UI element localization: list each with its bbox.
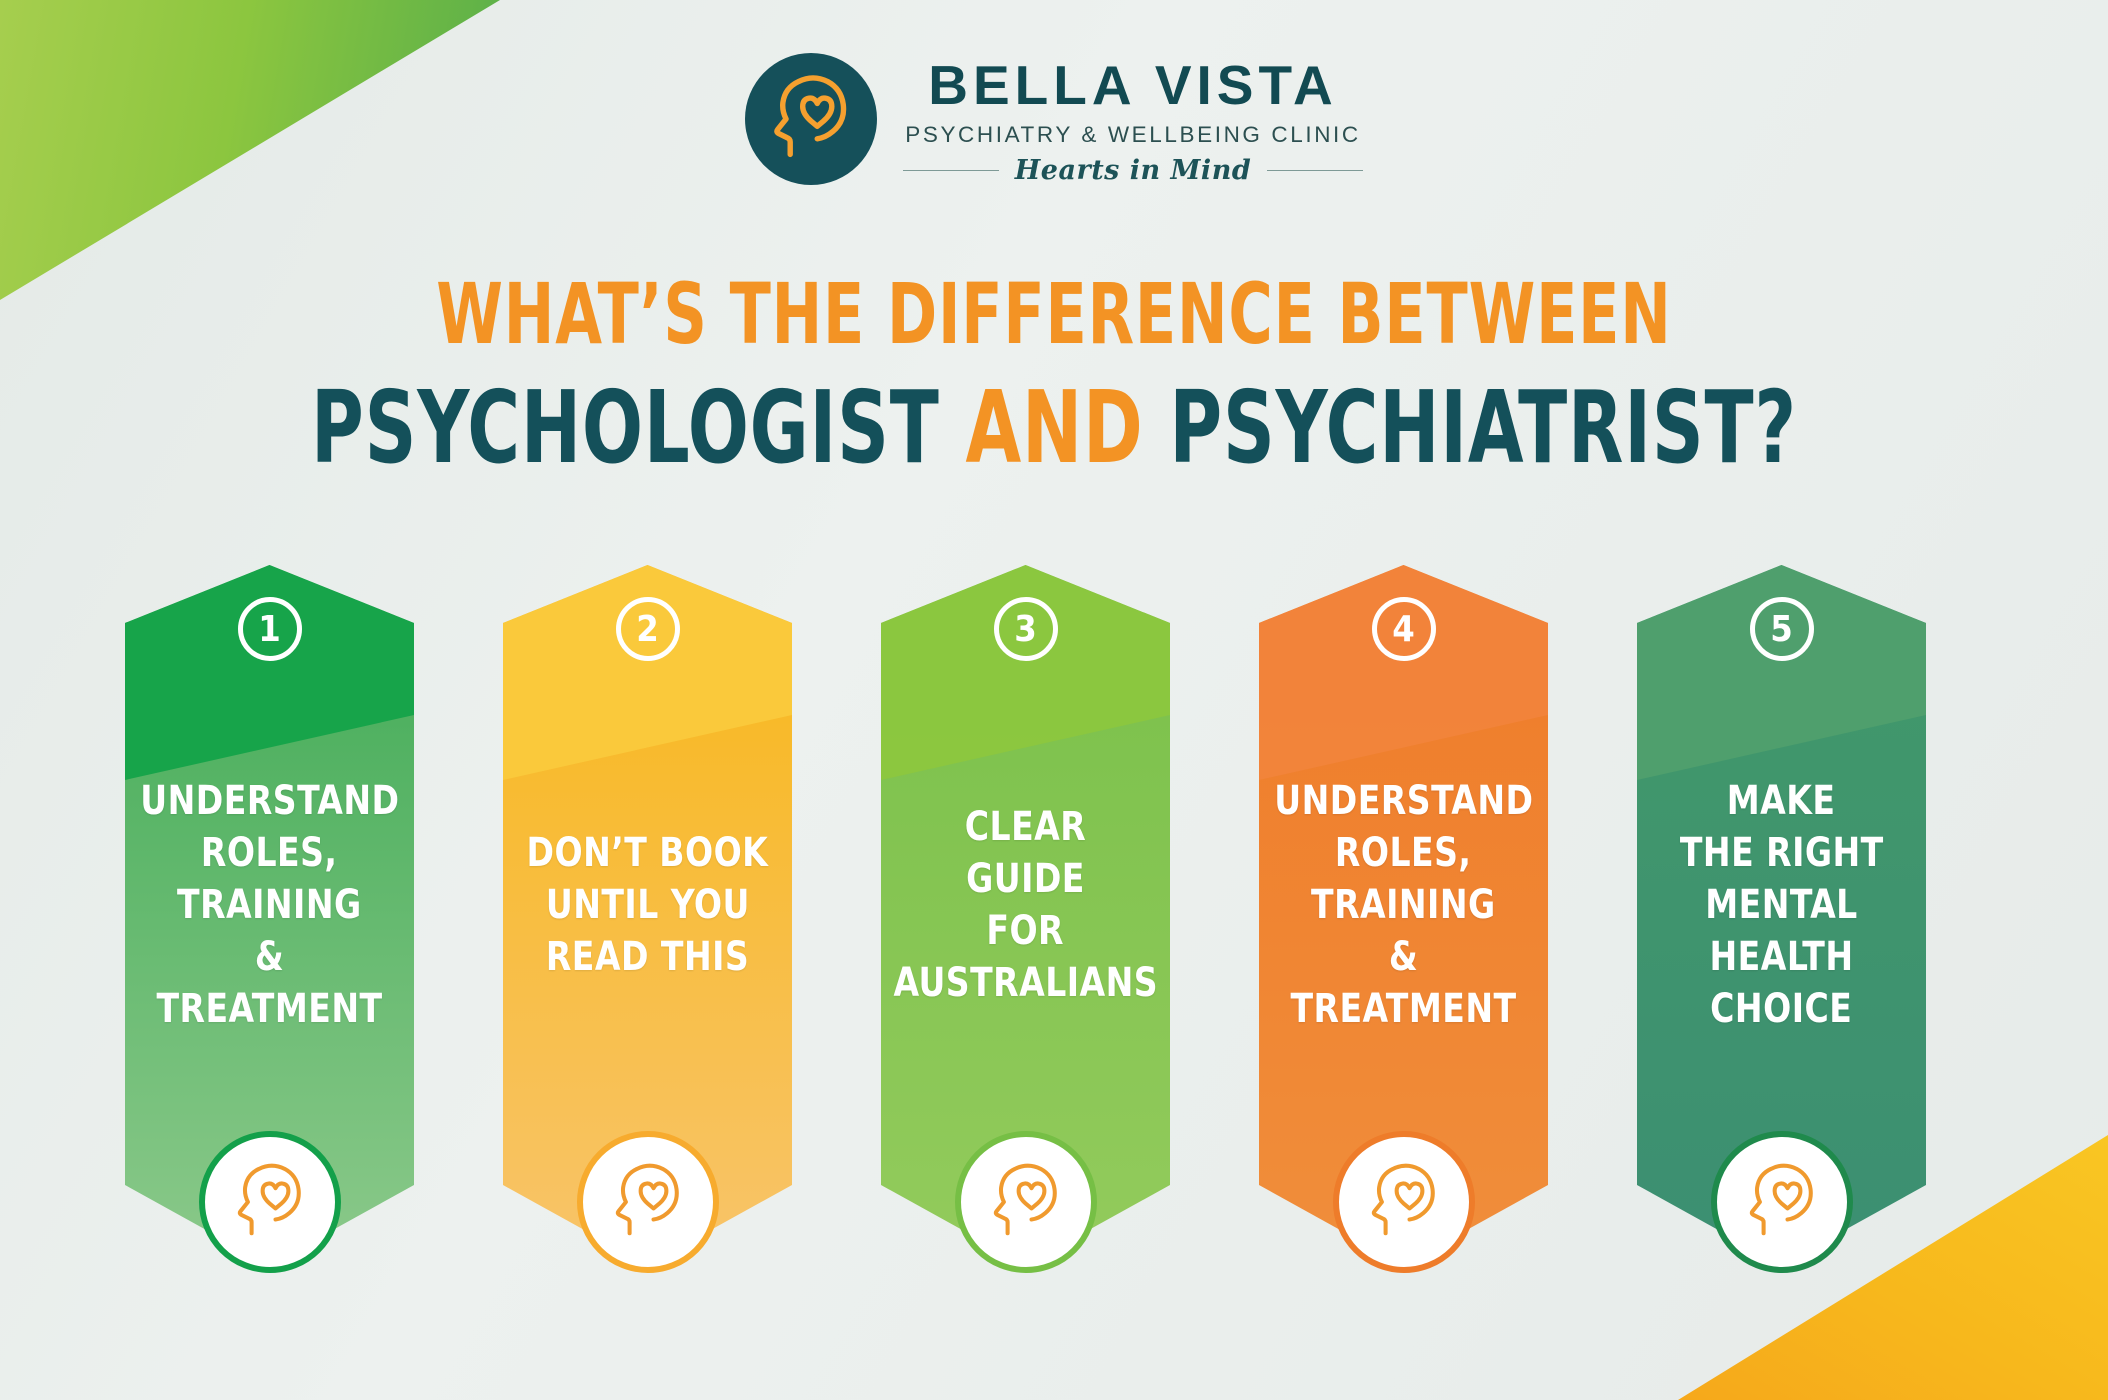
card-text-line: CHOICE xyxy=(1710,983,1852,1035)
headline-line-2-part-1: PSYCHOLOGIST xyxy=(311,369,965,486)
head-heart-icon xyxy=(199,1131,341,1273)
headline-line-2-accent: AND xyxy=(965,369,1143,486)
card-text-line: TRAINING xyxy=(1311,879,1496,931)
card-number-badge: 2 xyxy=(616,597,680,661)
card-text-line: TRAINING xyxy=(177,879,362,931)
step-card-1[interactable]: 1UNDERSTANDROLES,TRAINING& TREATMENT xyxy=(125,565,414,1265)
card-text-line: MENTAL HEALTH xyxy=(1656,879,1907,983)
card-text: UNDERSTANDROLES,TRAINING& TREATMENT xyxy=(1267,780,1540,1030)
headline-line-1: WHAT’S THE DIFFERENCE BETWEEN xyxy=(211,272,1897,356)
card-text-line: FOR xyxy=(987,905,1065,957)
logo-name: BELLA VISTA xyxy=(928,58,1337,113)
card-text: MAKETHE RIGHTMENTAL HEALTHCHOICE xyxy=(1645,780,1918,1030)
card-number-badge: 3 xyxy=(994,597,1058,661)
card-text-line: ROLES, xyxy=(1335,827,1472,879)
card-row: 1UNDERSTANDROLES,TRAINING& TREATMENT 2DO… xyxy=(0,565,2108,1335)
logo-subtitle: PSYCHIATRY & WELLBEING CLINIC xyxy=(905,122,1361,148)
head-heart-icon xyxy=(955,1131,1097,1273)
page-title: WHAT’S THE DIFFERENCE BETWEEN PSYCHOLOGI… xyxy=(0,272,2108,478)
step-card-5[interactable]: 5MAKETHE RIGHTMENTAL HEALTHCHOICE xyxy=(1637,565,1926,1265)
step-card-2[interactable]: 2DON’T BOOKUNTIL YOUREAD THIS xyxy=(503,565,792,1265)
tagline-rule-right xyxy=(1267,170,1363,172)
brand-logo: BELLA VISTA PSYCHIATRY & WELLBEING CLINI… xyxy=(0,52,2108,186)
head-heart-icon xyxy=(1333,1131,1475,1273)
card-text-line: UNDERSTAND xyxy=(140,775,399,827)
infographic-page: BELLA VISTA PSYCHIATRY & WELLBEING CLINI… xyxy=(0,0,2108,1400)
card-text: UNDERSTANDROLES,TRAINING& TREATMENT xyxy=(133,780,406,1030)
card-text-line: UNTIL YOU xyxy=(546,879,750,931)
logo-tagline-row: Hearts in Mind xyxy=(903,155,1363,186)
card-number-badge: 4 xyxy=(1372,597,1436,661)
logo-tagline: Hearts in Mind xyxy=(1015,155,1251,186)
card-text: DON’T BOOKUNTIL YOUREAD THIS xyxy=(511,780,784,1030)
step-card-3[interactable]: 3CLEAR GUIDEFORAUSTRALIANS xyxy=(881,565,1170,1265)
head-heart-icon xyxy=(745,53,877,185)
card-text-line: UNDERSTAND xyxy=(1274,775,1533,827)
card-number-badge: 1 xyxy=(238,597,302,661)
headline-line-2-part-2: PSYCHIATRIST? xyxy=(1144,369,1797,486)
card-text: CLEAR GUIDEFORAUSTRALIANS xyxy=(889,780,1162,1030)
card-text-line: CLEAR GUIDE xyxy=(900,801,1151,905)
tagline-rule-left xyxy=(903,170,999,172)
card-text-line: DON’T BOOK xyxy=(527,827,769,879)
card-text-line: & TREATMENT xyxy=(144,931,395,1035)
headline-line-2: PSYCHOLOGIST AND PSYCHIATRIST? xyxy=(211,378,1897,478)
card-text-line: AUSTRALIANS xyxy=(893,957,1158,1009)
head-heart-icon xyxy=(1711,1131,1853,1273)
step-card-4[interactable]: 4UNDERSTANDROLES,TRAINING& TREATMENT xyxy=(1259,565,1548,1265)
card-text-line: & TREATMENT xyxy=(1278,931,1529,1035)
card-text-line: ROLES, xyxy=(201,827,338,879)
card-text-line: THE RIGHT xyxy=(1680,827,1884,879)
card-text-line: READ THIS xyxy=(546,931,749,983)
card-number-badge: 5 xyxy=(1750,597,1814,661)
card-text-line: MAKE xyxy=(1727,775,1836,827)
head-heart-icon xyxy=(577,1131,719,1273)
